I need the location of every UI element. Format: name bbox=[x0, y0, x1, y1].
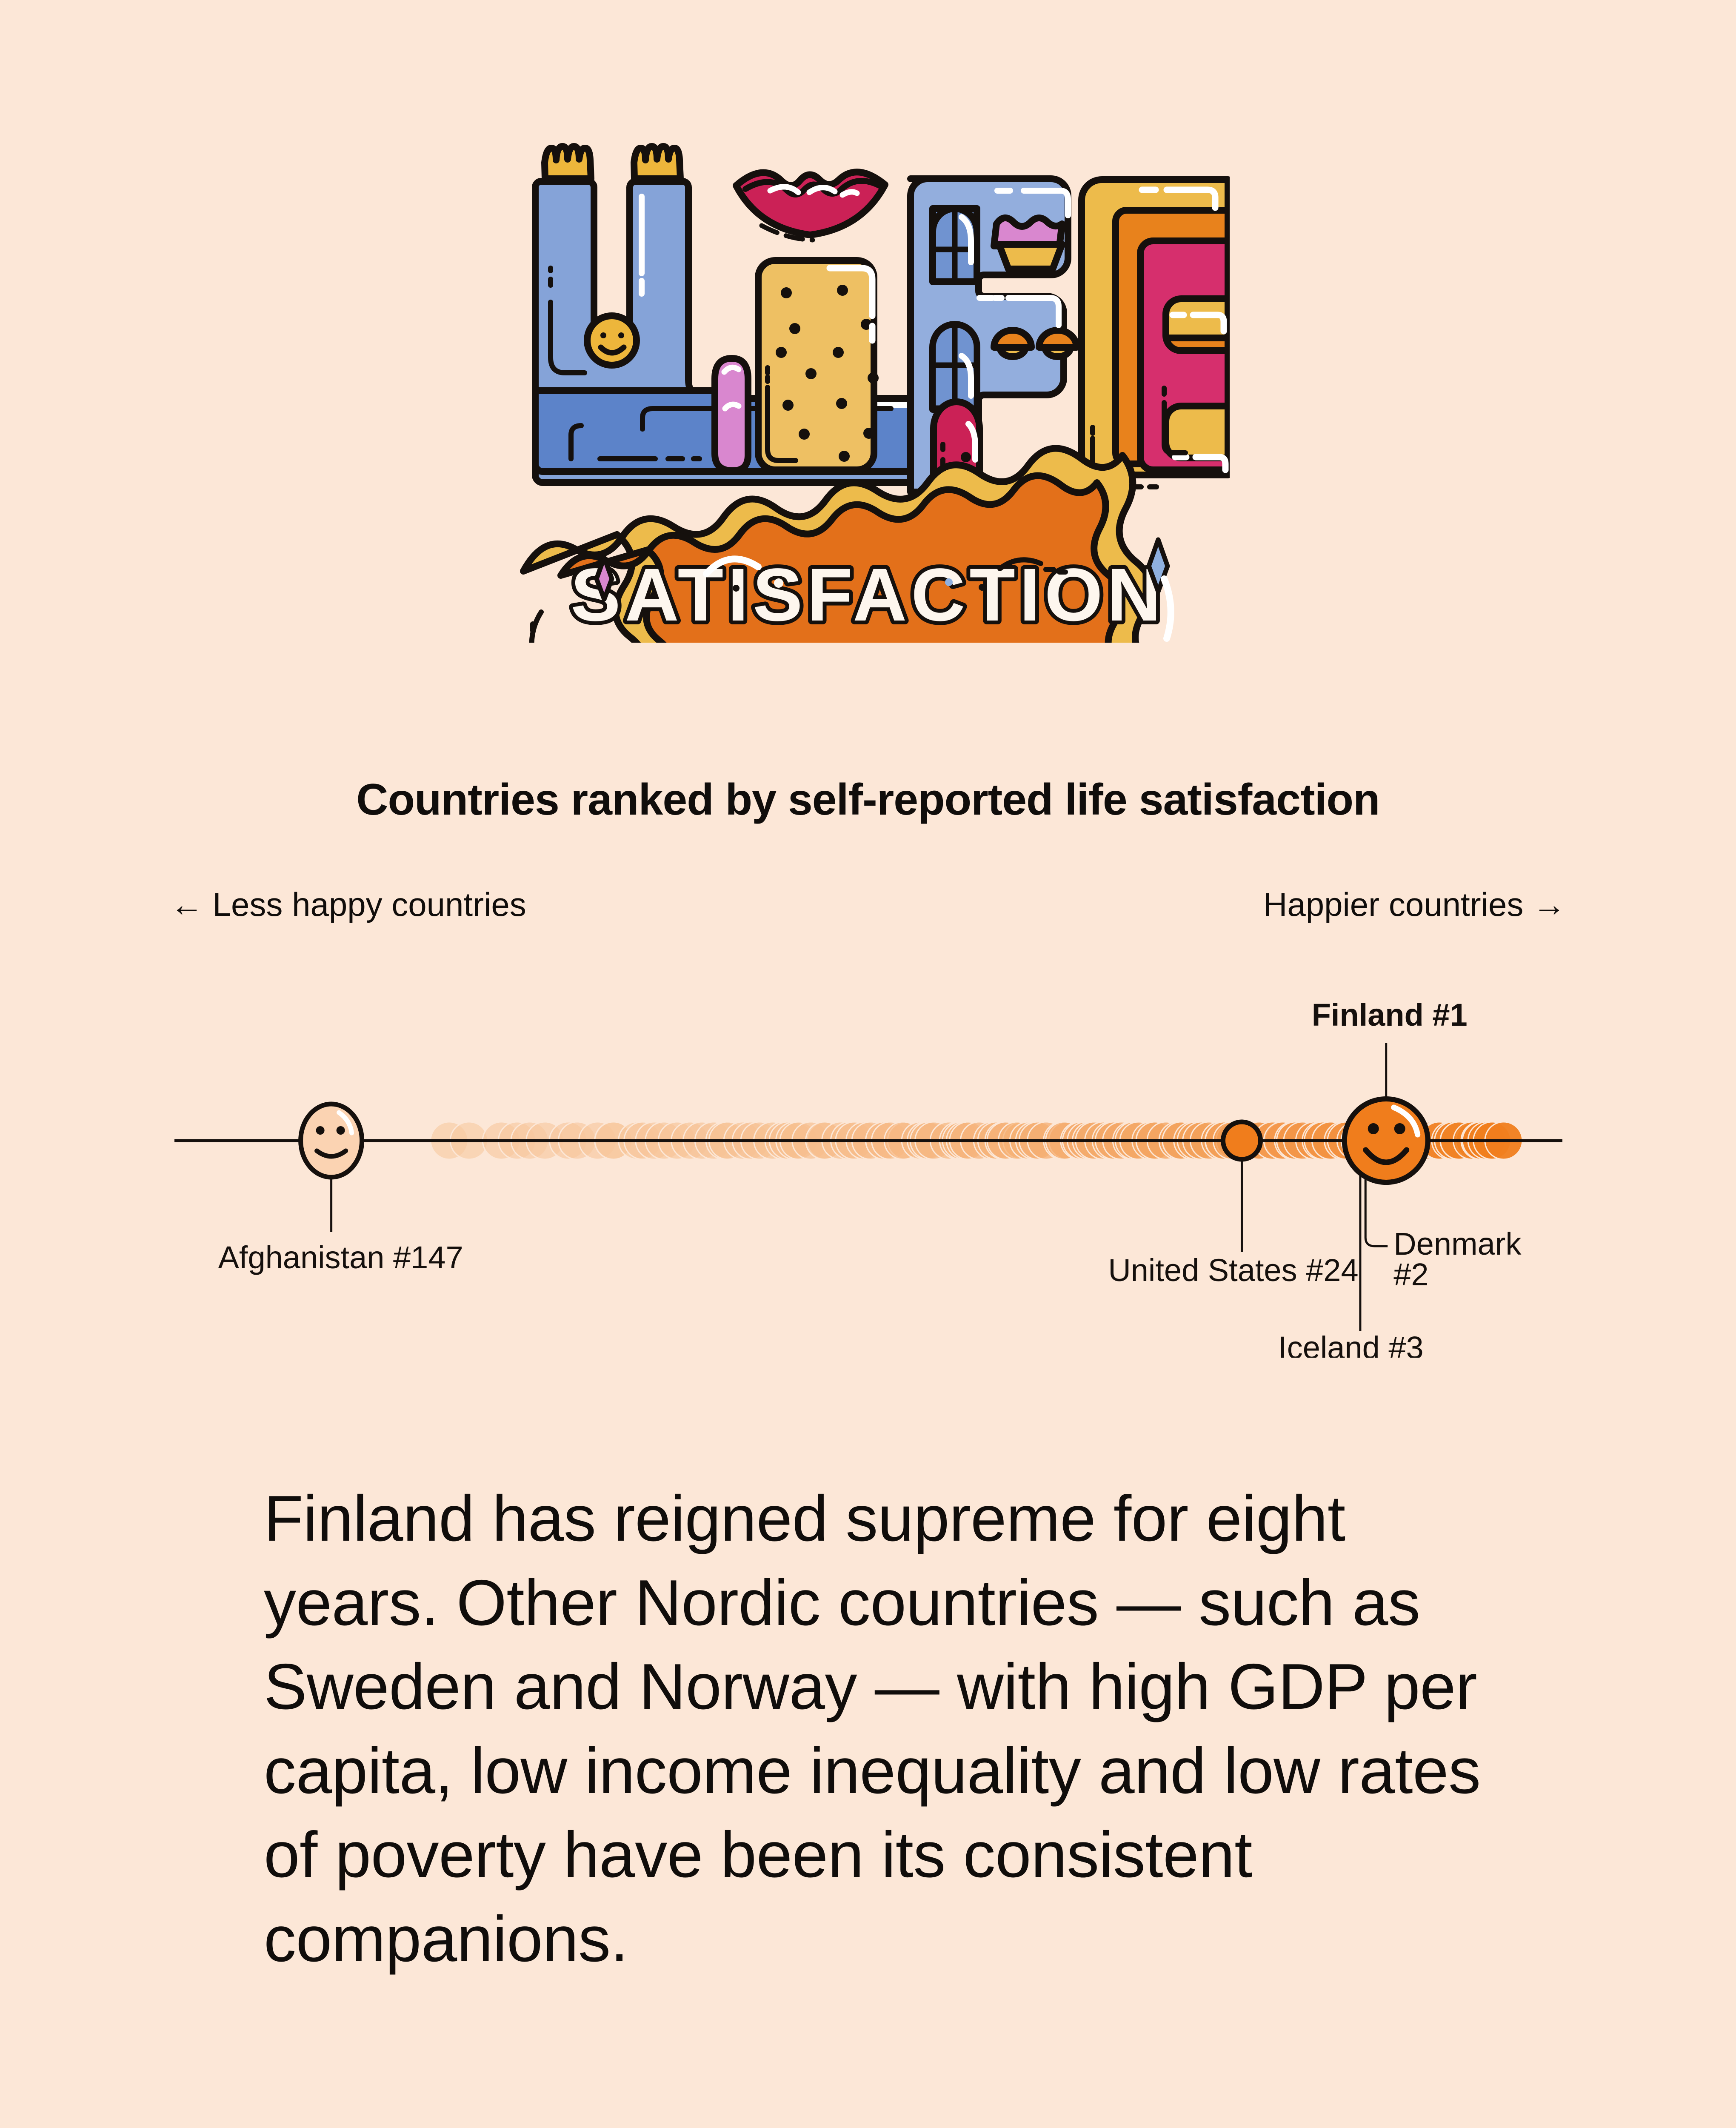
biscuit-icon bbox=[758, 260, 874, 470]
label-united-states: United States #24 bbox=[1108, 1253, 1358, 1288]
label-denmark-rank: #2 bbox=[1393, 1257, 1428, 1292]
label-finland: Finland #1 bbox=[1312, 997, 1468, 1033]
hero-illustration: SATISFACTION bbox=[506, 140, 1230, 643]
smiley-badge-icon bbox=[587, 316, 637, 365]
label-denmark: Denmark bbox=[1393, 1226, 1522, 1261]
chart-title: Countries ranked by self-reported life s… bbox=[0, 775, 1736, 825]
marker-united-states-dot bbox=[1223, 1122, 1260, 1159]
marker-afghanistan-face bbox=[301, 1104, 362, 1177]
body-copy: Finland has reigned supreme for eight ye… bbox=[264, 1477, 1498, 1982]
infographic-page: SATISFACTION bbox=[0, 0, 1736, 2128]
axis-label-happier: Happier countries → bbox=[1263, 885, 1566, 924]
label-iceland: Iceland #3 bbox=[1278, 1330, 1424, 1358]
beeswarm-chart: Afghanistan #147United States #24Iceland… bbox=[0, 953, 1736, 1358]
hero-letter-E bbox=[1082, 180, 1228, 487]
banner-word: SATISFACTION bbox=[571, 553, 1165, 637]
hero-letter-i bbox=[715, 172, 885, 471]
lilac-shape bbox=[715, 358, 748, 471]
annotation-layer: Afghanistan #147United States #24Iceland… bbox=[218, 997, 1522, 1358]
hand-left-icon bbox=[545, 146, 591, 179]
hand-right-icon bbox=[634, 146, 680, 179]
axis-label-less-happy: ← Less happy countries bbox=[170, 885, 526, 924]
marker-finland-smiley bbox=[1345, 1099, 1428, 1182]
body-paragraph: Finland has reigned supreme for eight ye… bbox=[264, 1477, 1498, 1982]
label-afghanistan: Afghanistan #147 bbox=[218, 1240, 463, 1275]
